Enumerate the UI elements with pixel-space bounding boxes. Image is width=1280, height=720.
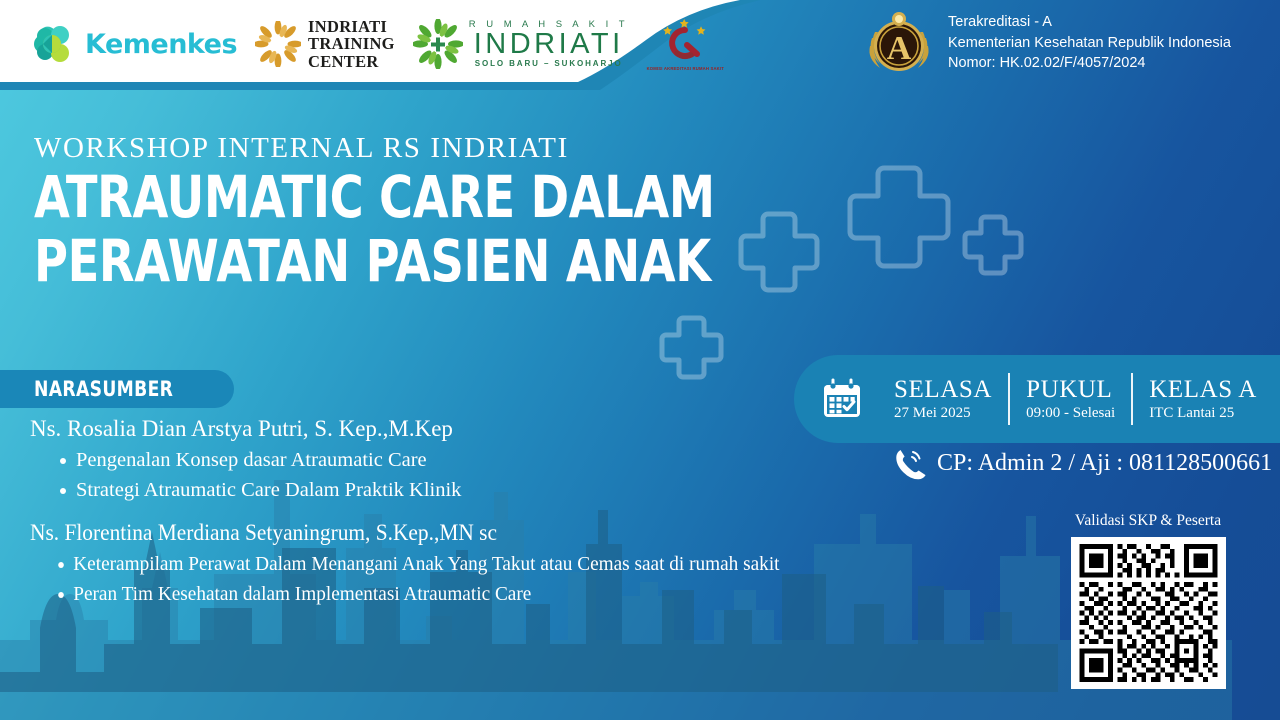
itc-line-3: CENTER [308, 53, 395, 70]
narasumber-badge-label: NARASUMBER [34, 377, 173, 401]
phone-icon [892, 446, 926, 480]
indriati-wordmark: R U M A H S A K I T INDRIATI SOLO BARU –… [469, 20, 629, 69]
event-day-label: SELASA [894, 376, 992, 403]
title-kicker: WORKSHOP INTERNAL RS INDRIATI [34, 132, 885, 165]
sunburst-icon [255, 21, 301, 67]
contact-text: CP: Admin 2 / Aji : 081128500661 [937, 450, 1272, 477]
event-time-column: PUKUL 09:00 - Selesai [1010, 376, 1131, 422]
speaker-topic: Keterampilam Perawat Dalam Menangani Ana… [30, 550, 895, 580]
title-block: WORKSHOP INTERNAL RS INDRIATI ATRAUMATIC… [34, 132, 885, 290]
speakers-list: Ns. Rosalia Dian Arstya Putri, S. Kep.,M… [30, 415, 950, 623]
event-room-value: ITC Lantai 25 [1149, 404, 1257, 422]
speaker-topic: Strategi Atraumatic Care Dalam Praktik K… [30, 476, 950, 506]
accreditation-medal-icon: A [862, 8, 936, 82]
qr-code[interactable] [1071, 537, 1226, 689]
leaf-burst-icon [413, 19, 463, 69]
event-time-value: 09:00 - Selesai [1026, 404, 1115, 422]
speaker-topic: Peran Tim Kesehatan dalam Implementasi A… [30, 580, 895, 610]
title-line-1: ATRAUMATIC CARE DALAM [34, 169, 715, 225]
kars-logo: KOMISI AKREDITASI RUMAH SAKIT [647, 17, 724, 71]
contact-block: CP: Admin 2 / Aji : 081128500661 [892, 446, 1272, 480]
event-details-panel: SELASA 27 Mei 2025 PUKUL 09:00 - Selesai… [794, 355, 1280, 443]
title-line-2: PERAWATAN PASIEN ANAK [34, 233, 715, 289]
itc-line-2: TRAINING [308, 35, 395, 52]
qr-caption: Validasi SKP & Peserta [1060, 512, 1236, 530]
kemenkes-logo: Kemenkes [30, 20, 237, 68]
qr-code-image [1078, 544, 1219, 682]
event-date-value: 27 Mei 2025 [894, 404, 992, 422]
speaker-topic: Pengenalan Konsep dasar Atraumatic Care [30, 446, 950, 476]
rs-indriati-logo: R U M A H S A K I T INDRIATI SOLO BARU –… [413, 19, 629, 69]
indriati-name: INDRIATI [469, 30, 629, 59]
event-date-column: SELASA 27 Mei 2025 [878, 376, 1008, 422]
itc-wordmark: INDRIATI TRAINING CENTER [308, 18, 395, 70]
calendar-icon [820, 377, 864, 421]
kemenkes-icon [30, 20, 78, 68]
accreditation-line-3: Nomor: HK.02.02/F/4057/2024 [948, 53, 1231, 74]
speaker-name: Ns. Florentina Merdiana Setyaningrum, S.… [30, 519, 886, 547]
event-room-column: KELAS A ITC Lantai 25 [1133, 376, 1273, 422]
speaker-topics: Pengenalan Konsep dasar Atraumatic Care … [30, 446, 950, 505]
itc-line-1: INDRIATI [308, 18, 395, 35]
kars-q-icon [657, 17, 713, 65]
indriati-training-center-logo: INDRIATI TRAINING CENTER [255, 18, 395, 70]
kars-caption: KOMISI AKREDITASI RUMAH SAKIT [647, 66, 724, 71]
accreditation-line-1: Terakreditasi - A [948, 12, 1231, 33]
speaker-topics: Keterampilam Perawat Dalam Menangani Ana… [30, 550, 950, 609]
event-time-label: PUKUL [1026, 376, 1115, 403]
indriati-sub: SOLO BARU – SUKOHARJO [469, 60, 629, 68]
kemenkes-wordmark: Kemenkes [85, 29, 237, 60]
accreditation-block: A Terakreditasi - A Kementerian Kesehata… [862, 8, 1231, 82]
accreditation-grade-letter: A [887, 30, 912, 67]
workshop-poster: Kemenkes [0, 0, 1280, 720]
speaker-item: Ns. Florentina Merdiana Setyaningrum, S.… [30, 519, 950, 609]
accreditation-line-2: Kementerian Kesehatan Republik Indonesia [948, 33, 1231, 54]
event-room-label: KELAS A [1149, 376, 1257, 403]
qr-block: Validasi SKP & Peserta [1060, 512, 1236, 689]
accreditation-text: Terakreditasi - A Kementerian Kesehatan … [948, 8, 1231, 74]
logo-row: Kemenkes [30, 12, 724, 76]
narasumber-badge: NARASUMBER [0, 370, 234, 408]
